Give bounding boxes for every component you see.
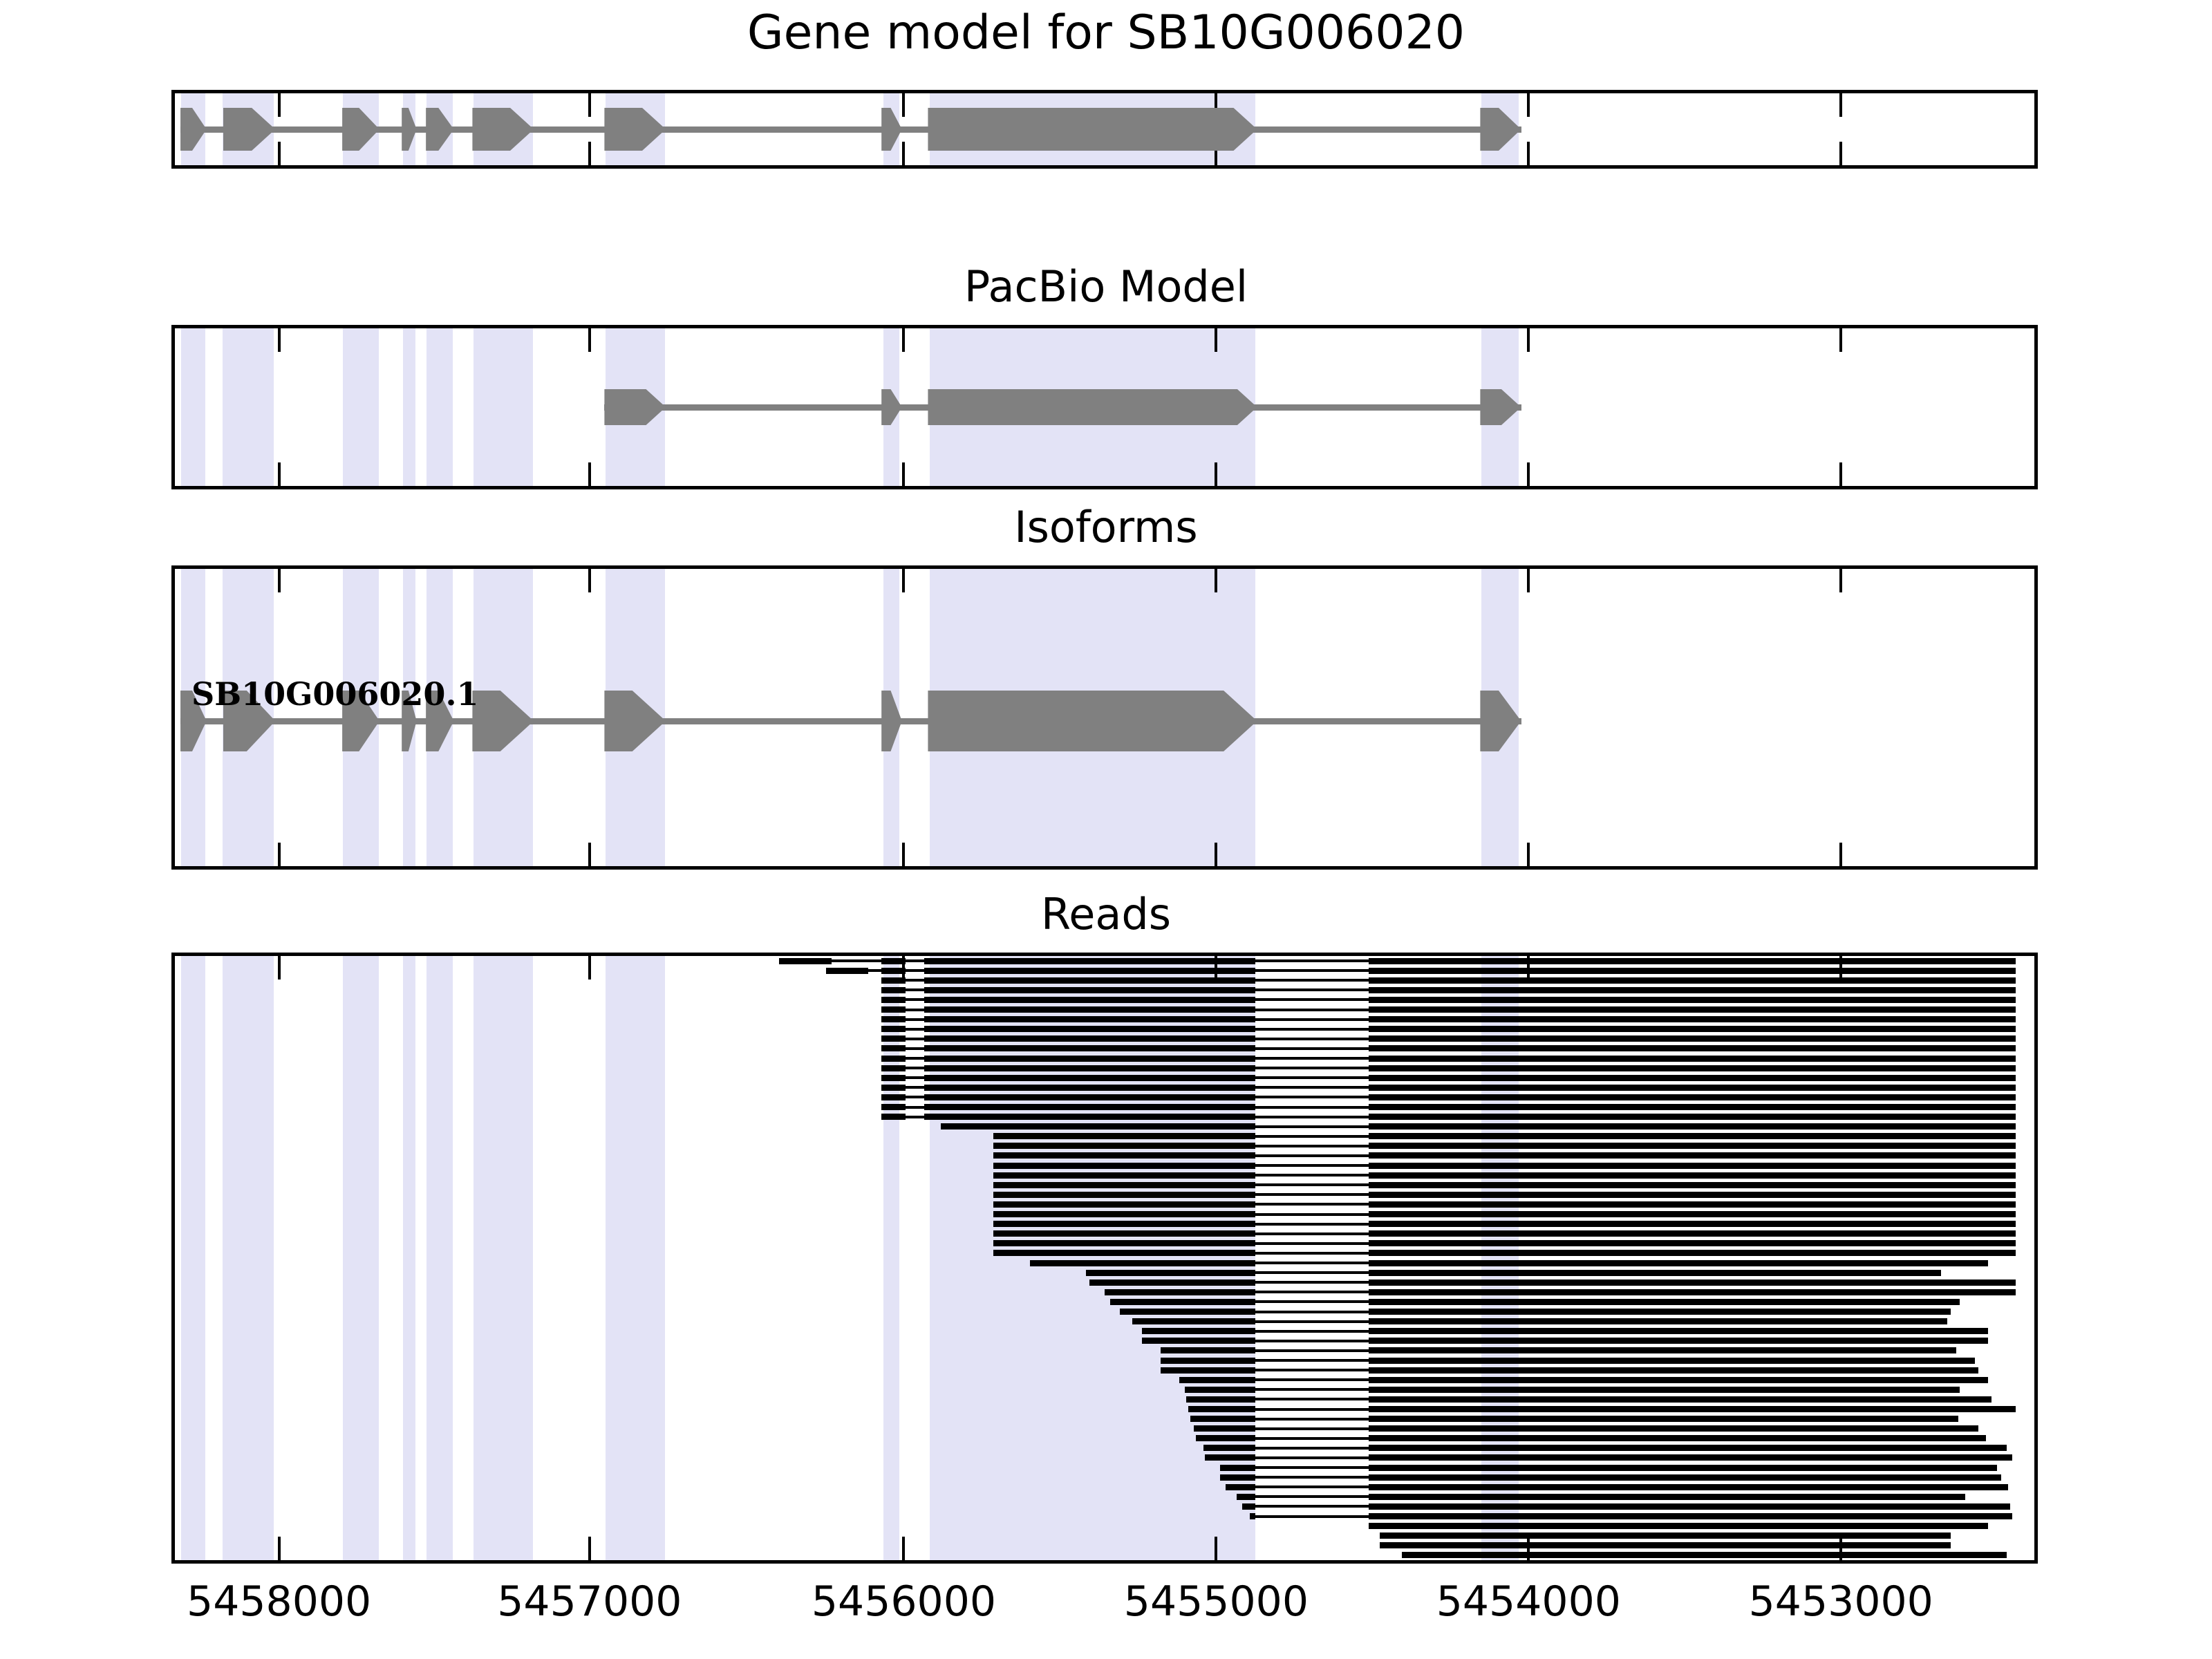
x-axis-tick: [278, 462, 281, 486]
x-axis-tick: [1215, 462, 1217, 486]
x-tick-label: 5455000: [1071, 1577, 1361, 1626]
read-block: [1369, 987, 2016, 993]
read-block: [881, 997, 906, 1003]
read-block: [1369, 1289, 2016, 1295]
read-block: [1132, 1318, 1255, 1324]
read-block: [1185, 1387, 1255, 1393]
read-block: [1380, 1533, 1951, 1539]
read-block: [1369, 1513, 2012, 1519]
x-axis-tick: [278, 328, 281, 352]
read-alignment: [779, 958, 2016, 964]
read-block: [924, 1056, 1255, 1062]
read-block: [1220, 1465, 1255, 1471]
read-block: [881, 1016, 906, 1022]
x-axis-tick: [902, 93, 905, 117]
read-block: [1237, 1494, 1255, 1500]
x-axis-tick: [902, 843, 905, 866]
x-axis-tick: [588, 328, 591, 352]
read-alignment: [1030, 1260, 1987, 1266]
x-tick-label: 5454000: [1383, 1577, 1674, 1626]
read-alignment: [1402, 1552, 2006, 1558]
read-alignment: [993, 1221, 2016, 1227]
read-block: [1186, 1396, 1255, 1403]
read-block: [993, 1133, 1255, 1139]
exon-highlight-band: [427, 328, 453, 486]
read-block: [881, 1035, 906, 1042]
read-block: [1369, 1143, 2016, 1149]
read-block: [1030, 1260, 1255, 1266]
reads-title: Reads: [0, 889, 2212, 939]
x-axis-tick: [588, 462, 591, 486]
read-block: [1369, 1309, 1951, 1315]
read-block: [1369, 1016, 2016, 1022]
read-alignment: [993, 1163, 2016, 1169]
read-alignment: [881, 987, 2016, 993]
read-block: [881, 1114, 906, 1120]
x-axis-tick: [1527, 328, 1530, 352]
read-block: [1369, 1347, 1956, 1353]
read-block: [881, 1006, 906, 1013]
read-block: [924, 1026, 1255, 1032]
read-block: [1105, 1289, 1255, 1295]
x-axis-tick: [588, 142, 591, 165]
read-alignment: [1179, 1377, 1988, 1383]
figure-title: Gene model for SB10G006020: [0, 6, 2212, 60]
read-alignment: [1237, 1494, 1965, 1500]
read-block: [1369, 1240, 2016, 1246]
exon-highlight-band: [403, 328, 416, 486]
read-block: [1369, 968, 2016, 974]
read-block: [993, 1143, 1255, 1149]
read-block: [993, 1221, 1255, 1227]
read-block: [924, 1075, 1255, 1081]
read-alignment: [826, 968, 2016, 974]
read-block: [993, 1230, 1255, 1237]
read-block: [1369, 958, 2016, 964]
read-block: [1161, 1347, 1255, 1353]
read-alignment: [1250, 1513, 2012, 1519]
read-block: [1369, 1387, 1960, 1393]
read-alignment: [881, 1035, 2016, 1042]
read-block: [1142, 1328, 1255, 1334]
read-block: [1369, 1045, 2016, 1051]
read-block: [924, 977, 1255, 984]
read-block: [924, 1085, 1255, 1091]
read-block: [993, 1163, 1255, 1169]
read-alignment: [1186, 1396, 1991, 1403]
read-alignment: [993, 1133, 2016, 1139]
read-block: [1369, 1425, 1978, 1432]
read-alignment: [993, 1152, 2016, 1159]
read-alignment: [1142, 1338, 1988, 1344]
read-block: [1369, 1445, 2007, 1451]
pacbio-model-title: PacBio Model: [0, 261, 2212, 312]
read-block: [1196, 1435, 1255, 1441]
x-axis-tick: [588, 569, 591, 592]
read-alignment: [993, 1172, 2016, 1179]
read-block: [924, 1006, 1255, 1013]
read-alignment: [1185, 1387, 1960, 1393]
read-alignment: [881, 1045, 2016, 1051]
read-alignment: [1220, 1465, 1997, 1471]
read-alignment: [1105, 1289, 2016, 1295]
read-block: [924, 1065, 1255, 1071]
read-alignment: [1220, 1474, 2001, 1481]
read-block: [993, 1240, 1255, 1246]
x-axis-tick: [1215, 843, 1217, 866]
read-block: [1120, 1309, 1255, 1315]
x-axis-tick: [588, 93, 591, 117]
read-block: [1369, 1270, 1942, 1276]
isoforms-plot-area: [175, 569, 2034, 866]
read-block: [924, 997, 1255, 1003]
read-block: [1369, 1026, 2016, 1032]
read-block: [1369, 1075, 2016, 1081]
x-axis-tick: [1839, 843, 1842, 866]
read-block: [924, 1035, 1255, 1042]
read-block: [1369, 1260, 1988, 1266]
read-alignment: [993, 1192, 2016, 1198]
read-block: [1190, 1416, 1255, 1422]
read-block: [1380, 1542, 1951, 1548]
x-axis-tick: [278, 569, 281, 592]
read-alignment: [881, 1016, 2016, 1022]
read-block: [1369, 1006, 2016, 1013]
exon-arrow: [928, 108, 1257, 151]
read-block: [1369, 1367, 1978, 1374]
x-tick-label: 5457000: [444, 1577, 735, 1626]
read-block: [1086, 1270, 1255, 1276]
read-block: [1369, 1182, 2016, 1188]
reads-axes: [171, 953, 2038, 1564]
exon-highlight-band: [474, 328, 533, 486]
read-block: [1110, 1299, 1255, 1305]
read-block: [1161, 1367, 1255, 1374]
read-block: [881, 1104, 906, 1110]
read-alignment: [881, 1065, 2016, 1071]
x-axis-tick: [902, 328, 905, 352]
read-alignment: [881, 1085, 2016, 1091]
read-block: [881, 977, 906, 984]
x-axis-tick: [278, 142, 281, 165]
read-block: [881, 1065, 906, 1071]
read-block: [1205, 1454, 1255, 1461]
read-block: [993, 1250, 1255, 1256]
read-block: [881, 958, 906, 964]
read-block: [1188, 1406, 1255, 1412]
read-block: [1250, 1513, 1255, 1519]
read-block: [1369, 1377, 1988, 1383]
read-alignment: [1203, 1445, 2007, 1451]
x-tick-label: 5453000: [1696, 1577, 1986, 1626]
read-block: [993, 1192, 1255, 1198]
gene-browser-figure: Gene model for SB10G006020 PacBio Model …: [0, 0, 2212, 1659]
read-block: [1369, 1035, 2016, 1042]
read-block: [1142, 1338, 1255, 1344]
read-block: [1369, 1396, 1991, 1403]
pacbio-model-plot-area: [175, 328, 2034, 486]
isoform-label-1: SB10G006020.1: [191, 675, 478, 713]
read-alignment: [1132, 1318, 1947, 1324]
read-block: [1369, 1123, 2016, 1130]
read-block: [779, 958, 831, 964]
read-block: [1369, 1416, 1958, 1422]
read-block: [881, 1026, 906, 1032]
exon-arrow: [928, 691, 1257, 751]
x-axis-tick: [1215, 328, 1217, 352]
x-axis-tick: [902, 569, 905, 592]
read-block: [924, 987, 1255, 993]
read-block: [881, 1045, 906, 1051]
read-alignment: [1089, 1280, 2016, 1286]
read-alignment: [941, 1123, 2016, 1130]
read-block: [941, 1123, 1255, 1130]
read-alignment: [993, 1230, 2016, 1237]
pacbio-model-axes: [171, 325, 2038, 489]
read-alignment: [1110, 1299, 1960, 1305]
read-alignment: [1226, 1484, 2008, 1490]
read-block: [924, 1016, 1255, 1022]
read-alignment: [993, 1201, 2016, 1208]
exon-arrow: [928, 389, 1257, 425]
read-alignment: [993, 1250, 2016, 1256]
x-axis-tick: [588, 843, 591, 866]
x-axis-tick: [1527, 93, 1530, 117]
read-block: [1369, 1474, 2001, 1481]
x-axis-tick: [1839, 93, 1842, 117]
intron-line: [180, 718, 1521, 724]
read-alignment: [881, 977, 2016, 984]
read-block: [1089, 1280, 1255, 1286]
read-alignment: [1196, 1435, 1986, 1441]
read-alignment: [993, 1211, 2016, 1217]
read-block: [993, 1182, 1255, 1188]
x-axis-tick: [1839, 142, 1842, 165]
gene-model-axes: [171, 90, 2038, 169]
x-axis-tick: [1215, 569, 1217, 592]
read-block: [1179, 1377, 1255, 1383]
read-alignment: [1369, 1523, 1988, 1529]
isoforms-title: Isoforms: [0, 502, 2212, 552]
x-axis-tick: [1527, 142, 1530, 165]
read-block: [1369, 1318, 1947, 1324]
read-block: [1369, 1211, 2016, 1217]
read-block: [1369, 1484, 2008, 1490]
x-axis-tick: [1527, 569, 1530, 592]
read-block: [1203, 1445, 1255, 1451]
read-block: [1369, 1338, 1988, 1344]
gene-model-plot-area: [175, 93, 2034, 165]
read-alignment: [881, 1026, 2016, 1032]
read-block: [1220, 1474, 1255, 1481]
read-block: [1369, 1201, 2016, 1208]
x-axis-tick: [278, 93, 281, 117]
read-block: [1369, 997, 2016, 1003]
read-alignment: [881, 1006, 2016, 1013]
x-axis-tick: [1839, 462, 1842, 486]
read-block: [1369, 1221, 2016, 1227]
read-alignment: [1190, 1416, 1958, 1422]
read-block: [1369, 1328, 1988, 1334]
read-block: [881, 968, 906, 974]
exon-highlight-band: [343, 328, 378, 486]
read-alignment: [993, 1240, 2016, 1246]
read-block: [1369, 1056, 2016, 1062]
isoforms-axes: SB10G006020.1: [171, 565, 2038, 870]
read-block: [1369, 1104, 2016, 1110]
reads-plot-area: [175, 956, 2034, 1560]
intron-line: [180, 126, 1521, 133]
read-block: [1369, 1085, 2016, 1091]
read-block: [1369, 1465, 1997, 1471]
read-block: [1369, 1133, 2016, 1139]
x-axis-tick: [1839, 328, 1842, 352]
read-block: [1369, 1280, 2016, 1286]
x-tick-label: 5458000: [134, 1577, 424, 1626]
read-alignment: [1161, 1367, 1979, 1374]
read-alignment: [881, 1104, 2016, 1110]
read-alignment: [1120, 1309, 1951, 1315]
read-block: [1369, 1094, 2016, 1100]
read-block: [924, 1114, 1255, 1120]
read-block: [881, 1075, 906, 1081]
read-block: [1369, 1114, 2016, 1120]
read-block: [1194, 1425, 1255, 1432]
read-block: [1369, 1065, 2016, 1071]
read-alignment: [1205, 1454, 2012, 1461]
read-block: [1369, 1163, 2016, 1169]
read-alignment: [1242, 1503, 2010, 1510]
read-alignment: [993, 1182, 2016, 1188]
read-block: [924, 1045, 1255, 1051]
x-axis-tick: [1527, 843, 1530, 866]
read-block: [1369, 1152, 2016, 1159]
x-axis-tick: [902, 142, 905, 165]
read-block: [1369, 1358, 1975, 1364]
read-alignment: [1380, 1533, 1951, 1539]
read-block: [1369, 1454, 2012, 1461]
read-block: [924, 1094, 1255, 1100]
read-block: [1369, 1435, 1986, 1441]
read-block: [924, 958, 1255, 964]
read-alignment: [1194, 1425, 1978, 1432]
read-block: [1402, 1552, 2006, 1558]
read-block: [1369, 1494, 1965, 1500]
read-alignment: [1188, 1406, 2016, 1412]
read-block: [993, 1201, 1255, 1208]
read-block: [826, 968, 869, 974]
read-block: [993, 1172, 1255, 1179]
read-block: [1369, 1172, 2016, 1179]
read-alignment: [881, 1056, 2016, 1062]
read-block: [881, 1094, 906, 1100]
read-block: [924, 968, 1255, 974]
read-block: [1369, 1250, 2016, 1256]
read-block: [1369, 1523, 1988, 1529]
read-alignment: [881, 997, 2016, 1003]
read-alignment: [993, 1143, 2016, 1149]
read-alignment: [1161, 1347, 1956, 1353]
read-block: [881, 1085, 906, 1091]
read-block: [993, 1211, 1255, 1217]
read-alignment: [881, 1114, 2016, 1120]
read-block: [881, 987, 906, 993]
x-axis-tick: [1839, 569, 1842, 592]
read-block: [1369, 1406, 2016, 1412]
x-axis-tick: [278, 843, 281, 866]
x-tick-label: 5456000: [758, 1577, 1049, 1626]
x-axis-tick: [1527, 462, 1530, 486]
read-block: [1369, 1299, 1960, 1305]
read-alignment: [1380, 1542, 1951, 1548]
read-alignment: [1161, 1358, 1975, 1364]
read-block: [1369, 977, 2016, 984]
exon-highlight-band: [223, 328, 274, 486]
read-block: [1369, 1230, 2016, 1237]
read-block: [1369, 1192, 2016, 1198]
read-block: [1242, 1503, 1255, 1510]
read-block: [1226, 1484, 1255, 1490]
read-alignment: [881, 1094, 2016, 1100]
x-axis-tick: [902, 462, 905, 486]
read-alignment: [1086, 1270, 1941, 1276]
read-block: [1369, 1503, 2010, 1510]
exon-highlight-band: [181, 328, 205, 486]
read-block: [993, 1152, 1255, 1159]
read-block: [881, 1056, 906, 1062]
read-block: [924, 1104, 1255, 1110]
read-alignment: [881, 1075, 2016, 1081]
read-block: [1161, 1358, 1255, 1364]
read-alignment: [1142, 1328, 1988, 1334]
